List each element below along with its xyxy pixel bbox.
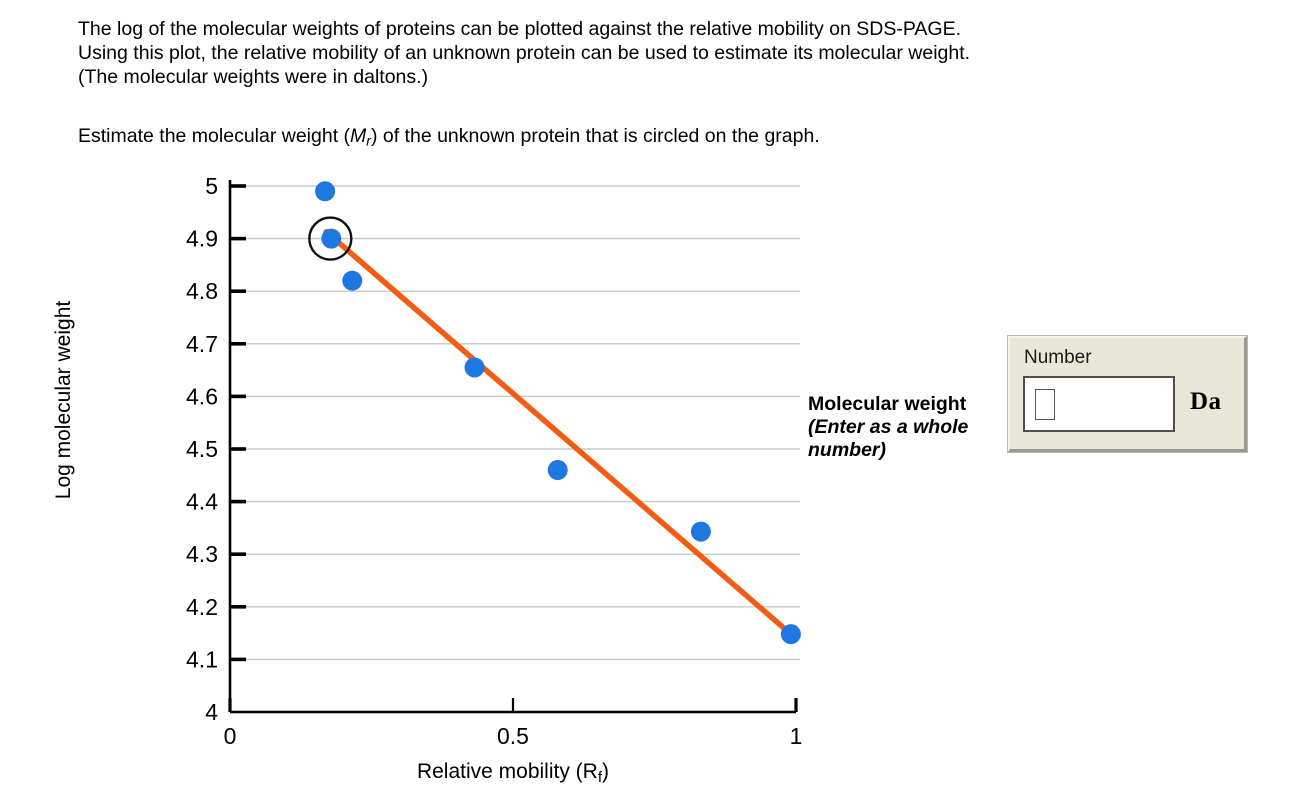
y-axis-tick-label: 4.9 [186, 226, 218, 252]
prompt-line-3: (The molecular weights were in daltons.) [78, 65, 1258, 89]
scatter-plot: 44.14.24.34.44.54.64.74.84.95 00.51 Log … [0, 160, 820, 800]
x-axis-title-close: ) [602, 760, 609, 783]
x-axis-tick-label: 0 [224, 723, 237, 749]
trend-line [326, 232, 791, 634]
answer-label-note: (Enter as a whole number) [808, 416, 968, 461]
y-axis-tick-label: 4.3 [186, 541, 218, 567]
x-axis-tick-label: 1 [790, 723, 803, 749]
x-axis-tick-label: 0.5 [497, 723, 529, 749]
y-axis-title: Log molecular weight [52, 240, 76, 560]
data-point [321, 229, 341, 249]
question-text-pre: Estimate the molecular weight ( [78, 125, 350, 147]
y-axis-tick-label: 4.6 [186, 383, 218, 409]
data-point [691, 522, 711, 542]
y-axis-tick-labels: 44.14.24.34.44.54.64.74.84.95 [186, 173, 218, 725]
y-axis-tick-label: 4 [205, 699, 218, 725]
answer-label: Molecular weight (Enter as a whole numbe… [808, 393, 1008, 462]
question-symbol: M [350, 125, 366, 147]
y-axis-tick-label: 4.4 [186, 489, 218, 515]
y-axis-tick-label: 4.7 [186, 331, 218, 357]
unit-label-da: Da [1190, 388, 1222, 416]
data-point [315, 181, 335, 201]
x-axis-tick-labels: 00.51 [224, 723, 803, 749]
number-field-label: Number [1024, 347, 1092, 369]
data-point [465, 357, 485, 377]
prompt-line-2: Using this plot, the relative mobility o… [78, 41, 1258, 65]
data-point [781, 624, 801, 644]
answer-label-main: Molecular weight [808, 393, 966, 415]
y-axis-tick-label: 4.5 [186, 436, 218, 462]
gridlines [230, 186, 800, 659]
y-axis-ticks [230, 186, 246, 659]
y-axis-tick-label: 4.1 [186, 646, 218, 672]
prompt-block: The log of the molecular weights of prot… [78, 17, 1258, 89]
data-point [342, 271, 362, 291]
y-axis-tick-label: 4.2 [186, 594, 218, 620]
question-line: Estimate the molecular weight (Mr) of th… [78, 124, 820, 153]
data-points [315, 181, 801, 644]
x-axis-title: Relative mobility (Rf) [230, 760, 796, 786]
question-text-post: ) of the unknown protein that is circled… [371, 125, 820, 147]
x-axis-title-base: Relative mobility (R [417, 760, 598, 783]
x-axis-ticks [230, 698, 796, 712]
y-axis-tick-label: 4.8 [186, 278, 218, 304]
text-caret-box [1035, 389, 1055, 420]
molecular-weight-input[interactable] [1023, 376, 1175, 432]
plot-canvas: 44.14.24.34.44.54.64.74.84.95 00.51 [0, 160, 820, 760]
data-point [548, 460, 568, 480]
prompt-line-1: The log of the molecular weights of prot… [78, 17, 1258, 41]
answer-panel: Number Da [1008, 336, 1247, 452]
y-axis-tick-label: 5 [205, 173, 218, 199]
